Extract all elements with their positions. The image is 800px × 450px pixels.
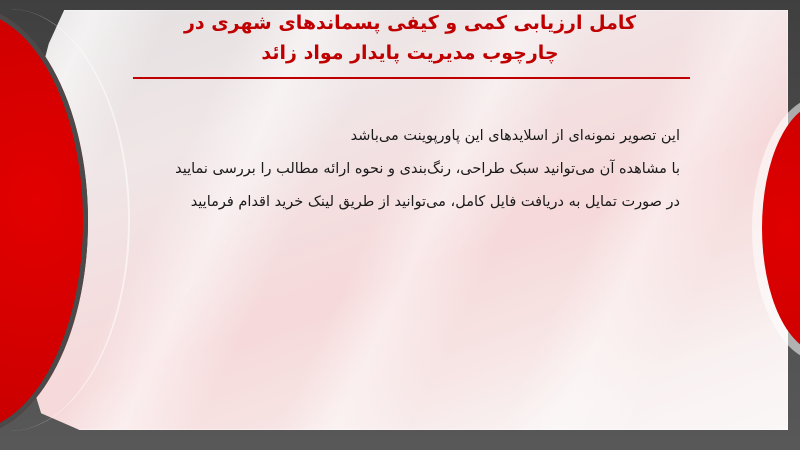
slide-title-line-2: چارچوب مدیریت پایدار مواد زائد [120,38,700,68]
slide-content-panel [18,10,788,430]
presentation-slide: کامل ارزیابی کمی و کیفی پسماندهای شهری د… [0,0,800,450]
body-text-line-2: با مشاهده آن می‌توانید سبک طراحی، رنگ‌بن… [120,153,680,186]
slide-title-line-1: کامل ارزیابی کمی و کیفی پسماندهای شهری د… [120,8,700,38]
title-underline-rule [133,77,690,79]
body-text-line-3: در صورت تمایل به دریافت فایل کامل، می‌تو… [120,186,680,219]
slide-body-text: این تصویر نمونه‌ای از اسلایدهای این پاور… [120,120,680,219]
slide-title: کامل ارزیابی کمی و کیفی پسماندهای شهری د… [120,8,700,68]
body-text-line-1: این تصویر نمونه‌ای از اسلایدهای این پاور… [120,120,680,153]
